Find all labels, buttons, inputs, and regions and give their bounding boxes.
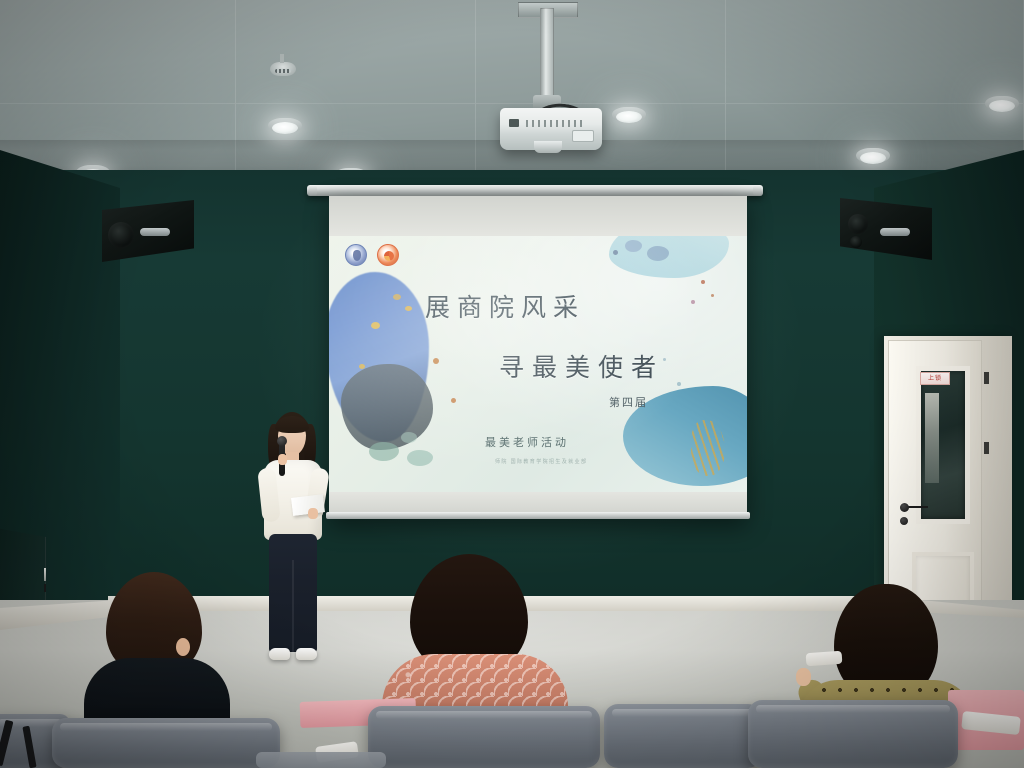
slide-dot — [451, 398, 456, 403]
slide-ink-grey-shape — [341, 364, 433, 450]
projection-screen-roller[interactable] — [307, 185, 763, 196]
slide-fine-print: 师院 国际教育学院招生及就业部 — [495, 458, 587, 465]
ceiling-light — [612, 107, 646, 125]
door-lock-knob[interactable] — [900, 517, 908, 525]
presentation-slide: 展商院风采 寻最美使者 第四届 最美老师活动 师院 国际教育学院招生及就业部 — [329, 236, 747, 492]
floor-paper-item — [806, 651, 843, 666]
presenter-trousers — [269, 534, 317, 652]
presenter-speaking — [250, 412, 334, 674]
slide-dot — [711, 294, 714, 297]
ceiling-light — [985, 96, 1019, 114]
slide-blob — [407, 450, 433, 466]
screen-blank-area — [329, 196, 747, 240]
door-sign: 上锁 — [920, 372, 950, 385]
door-hinge — [984, 442, 989, 454]
slide-blob — [401, 432, 417, 443]
bench-seat-front-center[interactable] — [368, 706, 600, 768]
projection-screen[interactable]: 展商院风采 寻最美使者 第四届 最美老师活动 师院 国际教育学院招生及就业部 — [329, 196, 747, 518]
projector-mount-pole — [540, 8, 554, 104]
presentation-room-scene: 展商院风采 寻最美使者 第四届 最美老师活动 师院 国际教育学院招生及就业部 上… — [0, 0, 1024, 768]
presenter-shoe-right — [296, 648, 317, 660]
audience-member-left — [74, 572, 226, 722]
screen-weight-bar — [326, 512, 750, 519]
slide-title-line-1: 展商院风采 — [425, 288, 585, 324]
presenter-left-hand — [278, 454, 287, 465]
organization-logo — [377, 244, 399, 266]
bench-seat-right[interactable] — [748, 700, 958, 768]
left-wall-door[interactable] — [0, 528, 46, 606]
bench-base — [256, 752, 386, 768]
slide-dot — [393, 294, 401, 300]
door-glass-pane — [916, 366, 970, 524]
slide-dot — [405, 306, 412, 311]
slide-blob — [369, 442, 399, 461]
audience-ear — [176, 638, 190, 656]
audience-hand — [796, 668, 811, 686]
presenter-bangs — [275, 416, 309, 433]
bench-seat-front-right[interactable] — [604, 704, 762, 768]
slide-dot — [677, 382, 681, 386]
microphone-head-icon — [277, 436, 287, 446]
door-hinge — [984, 372, 989, 384]
slide-dot — [359, 364, 365, 369]
slide-dot — [701, 280, 705, 284]
bench-seat-front-left[interactable] — [52, 718, 280, 768]
presenter-right-hand — [308, 508, 318, 519]
school-crest-logo — [345, 244, 367, 266]
ceiling-light — [856, 148, 890, 166]
ceiling-projector — [500, 108, 602, 150]
slide-dot — [691, 300, 695, 304]
door-knob[interactable] — [900, 503, 909, 512]
presenter-shoe-left — [269, 648, 290, 660]
slide-dot — [433, 358, 439, 364]
ceiling-light — [268, 118, 302, 136]
slide-dot — [613, 250, 618, 255]
projector-lens — [534, 141, 562, 153]
ceiling — [0, 0, 1024, 198]
smoke-detector-icon — [270, 62, 296, 76]
slide-dot — [371, 322, 380, 329]
door-lever-handle[interactable] — [906, 506, 928, 508]
slide-title-line-2: 寻最美使者 — [499, 348, 664, 384]
slide-logo-group — [345, 244, 399, 266]
slide-subtitle: 最美老师活动 — [485, 434, 569, 450]
slide-edition-label: 第四届 — [609, 394, 648, 410]
